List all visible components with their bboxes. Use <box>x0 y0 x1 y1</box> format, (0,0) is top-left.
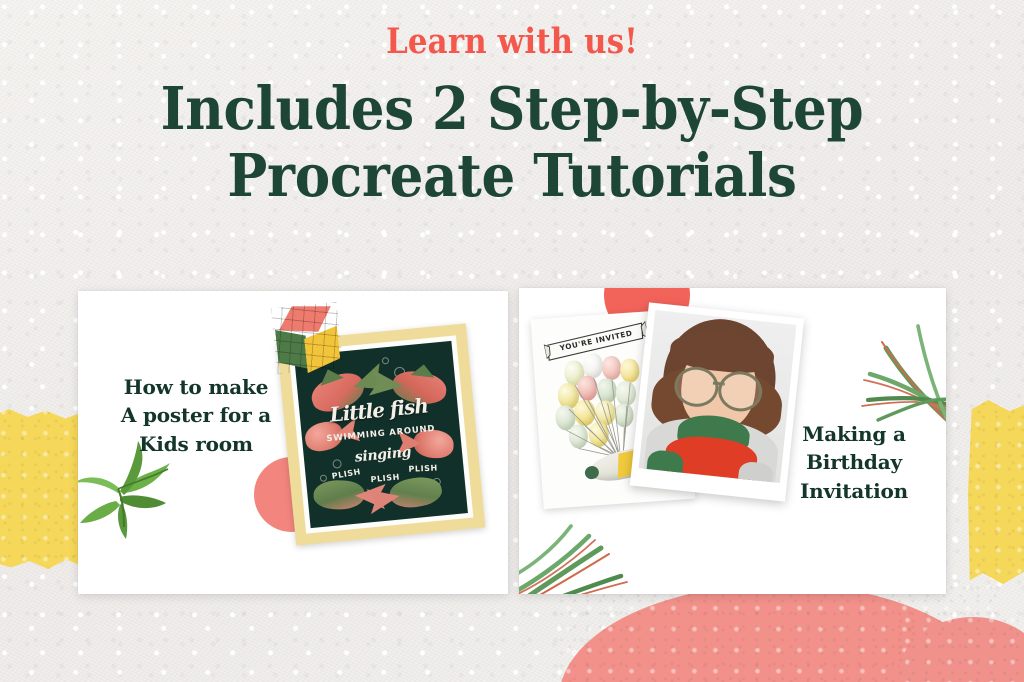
tutorial-card-poster[interactable]: Little fish SWIMMING AROUND singing PLIS… <box>78 291 508 594</box>
plish-word: PLISH <box>408 464 438 474</box>
grass-blades-icon <box>834 304 946 428</box>
card-title-line-3: Kids room <box>106 430 286 458</box>
tutorial-card-invitation[interactable]: YOU'RE INVITED <box>519 288 946 594</box>
bottom-right-salmon-circle <box>898 617 1024 682</box>
page-title: Includes 2 Step-by-Step Procreate Tutori… <box>51 75 973 210</box>
grass-blades-icon <box>519 492 635 594</box>
card-title-line-1: How to make <box>106 373 286 401</box>
rubiks-cube-icon <box>271 302 344 375</box>
headline-line-2: Procreate Tutorials <box>51 142 973 209</box>
header-block: Learn with us! Includes 2 Step-by-Step P… <box>0 24 1024 209</box>
eyebrow-text: Learn with us! <box>61 24 962 61</box>
card-title-line-2: Birthday <box>774 448 934 476</box>
torn-paper-band-right <box>968 400 1024 586</box>
card-title-line-2: A poster for a <box>106 401 286 429</box>
photo-image <box>639 310 797 483</box>
fish-illustration <box>314 480 365 511</box>
plish-word: PLISH <box>331 467 361 481</box>
card-title-line-3: Invitation <box>774 477 934 505</box>
poster-canvas: Learn with us! Includes 2 Step-by-Step P… <box>0 0 1024 682</box>
card-title-invitation: Making a Birthday Invitation <box>774 420 934 505</box>
card-title-line-1: Making a <box>774 420 934 448</box>
card-title-poster: How to make A poster for a Kids room <box>106 373 286 458</box>
headline-line-1: Includes 2 Step-by-Step <box>161 74 864 143</box>
